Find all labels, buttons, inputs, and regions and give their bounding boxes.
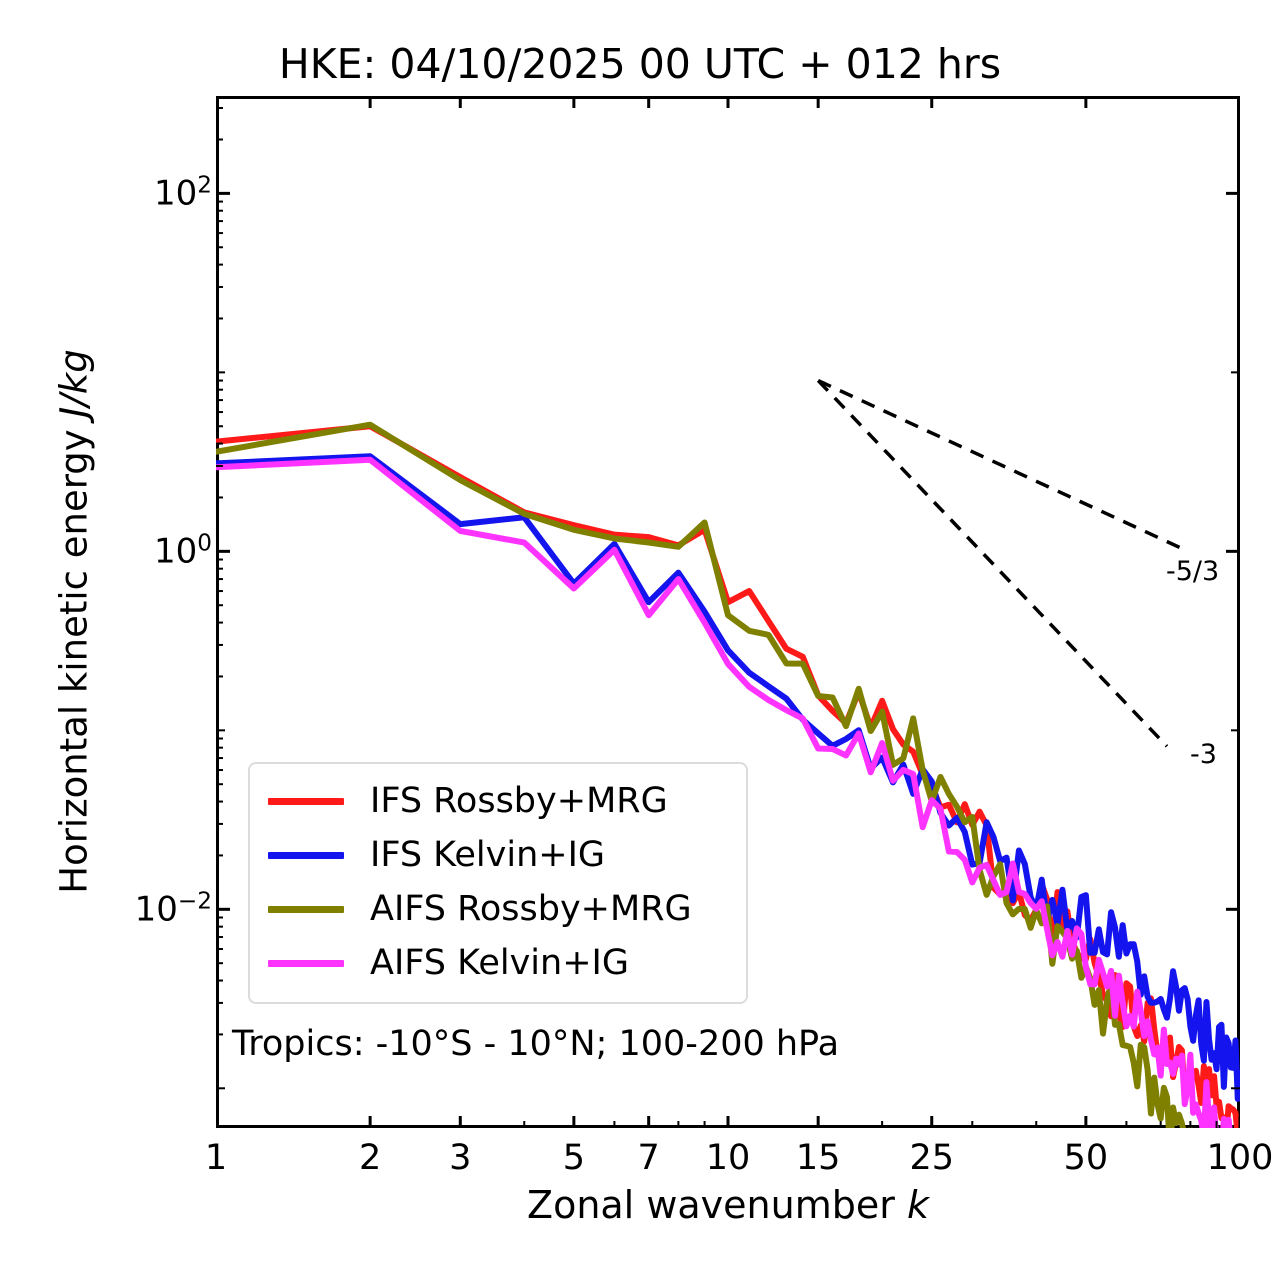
x-tick-label: 2 [359,1138,381,1178]
y-axis-title-text: Horizontal kinetic energy [53,418,96,894]
legend-item[interactable]: IFS Rossby+MRG [250,774,746,828]
chart-legend: IFS Rossby+MRGIFS Kelvin+IGAIFS Rossby+M… [248,762,748,1004]
legend-color-swatch [268,798,344,805]
legend-item[interactable]: AIFS Kelvin+IG [250,936,746,990]
x-tick-label: 5 [563,1138,585,1178]
x-axis-title-symbol: k [907,1183,929,1227]
x-axis-title-text: Zonal wavenumber [527,1183,907,1227]
x-axis-title: Zonal wavenumber k [216,1183,1240,1227]
legend-color-swatch [268,960,344,967]
legend-item[interactable]: AIFS Rossby+MRG [250,882,746,936]
region-annotation: Tropics: -10°S - 10°N; 100-200 hPa [232,1024,839,1064]
y-tick-label: 100 [154,531,212,572]
y-tick-label: 102 [154,173,212,214]
chart-page: HKE: 04/10/2025 00 UTC + 012 hrs 1235710… [0,0,1280,1288]
slope-label-minus-three: -3 [1190,739,1217,770]
legend-color-swatch [268,906,344,913]
x-tick-label: 15 [796,1138,841,1178]
legend-item-label: IFS Kelvin+IG [370,835,605,875]
legend-item[interactable]: IFS Kelvin+IG [250,828,746,882]
x-tick-label: 50 [1064,1138,1109,1178]
y-axis-title-unit: J/kg [53,349,96,417]
y-tick-label: 10−2 [135,889,212,930]
x-tick-label: 25 [909,1138,954,1178]
x-tick-label: 7 [638,1138,660,1178]
legend-item-label: IFS Rossby+MRG [370,781,668,821]
x-tick-label: 10 [706,1138,751,1178]
x-tick-label: 100 [1207,1138,1274,1178]
x-tick-label: 1 [205,1138,227,1178]
slope-label-five-thirds: -5/3 [1166,556,1219,587]
x-tick-label: 3 [449,1138,471,1178]
page-title: HKE: 04/10/2025 00 UTC + 012 hrs [0,40,1280,88]
legend-item-label: AIFS Kelvin+IG [370,943,629,983]
y-axis-title: Horizontal kinetic energy J/kg [53,262,96,982]
legend-item-label: AIFS Rossby+MRG [370,889,692,929]
legend-color-swatch [268,852,344,859]
